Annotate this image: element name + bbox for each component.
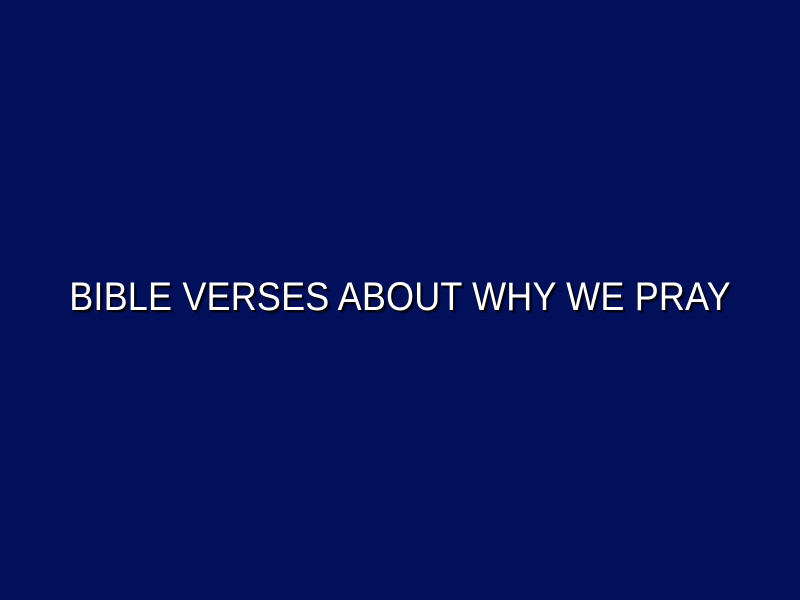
- title-card: BIBLE VERSES ABOUT WHY WE PRAY: [0, 0, 800, 600]
- page-title: BIBLE VERSES ABOUT WHY WE PRAY: [40, 275, 760, 319]
